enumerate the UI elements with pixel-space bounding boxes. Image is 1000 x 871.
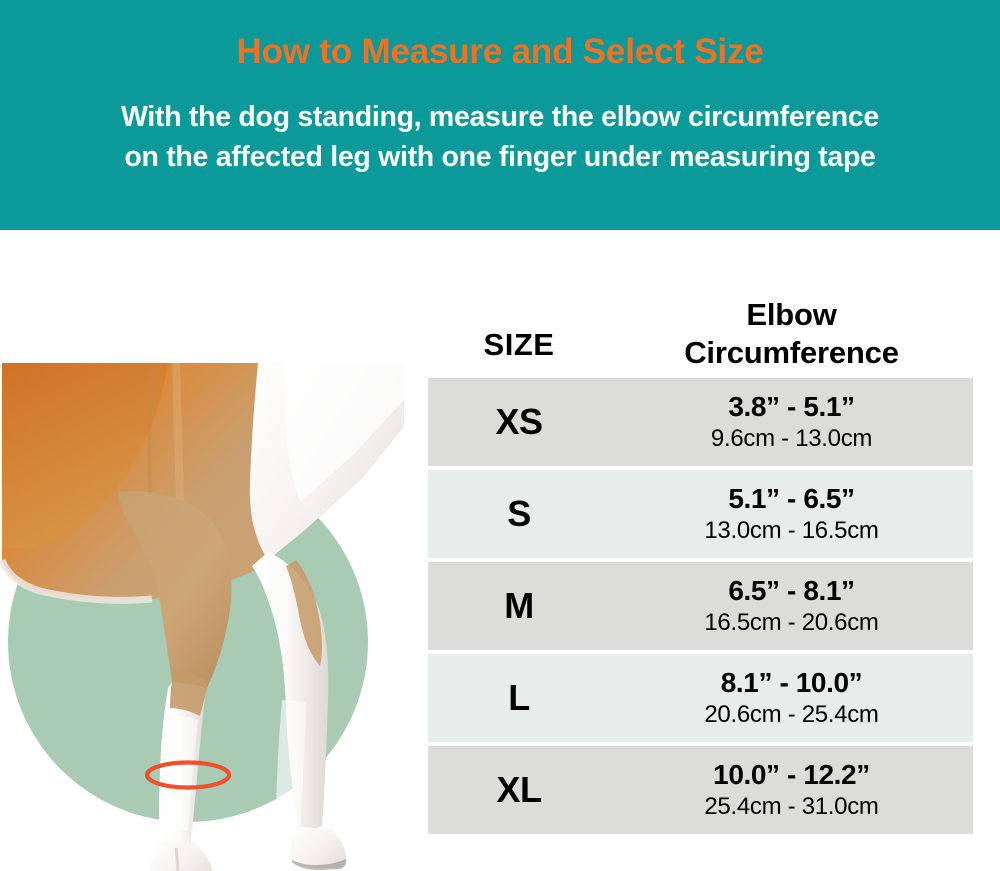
column-header-size: SIZE <box>428 327 610 372</box>
cell-size: M <box>428 585 610 627</box>
cell-circumference: 5.1” - 6.5” 13.0cm - 16.5cm <box>610 482 973 547</box>
cell-circumference: 10.0” - 12.2” 25.4cm - 31.0cm <box>610 758 973 823</box>
cell-circumference: 8.1” - 10.0” 20.6cm - 25.4cm <box>610 666 973 731</box>
value-centimeters: 16.5cm - 20.6cm <box>610 608 973 639</box>
cell-size: L <box>428 677 610 719</box>
cell-size: XS <box>428 401 610 443</box>
size-chart-table: SIZE Elbow Circumference XS 3.8” - 5.1” … <box>428 250 973 838</box>
page-title: How to Measure and Select Size <box>0 34 1000 71</box>
dog-rear-leg <box>252 552 346 870</box>
subtitle-line-2: on the affected leg with one finger unde… <box>0 137 1000 177</box>
table-row: S 5.1” - 6.5” 13.0cm - 16.5cm <box>428 470 973 558</box>
value-inches: 6.5” - 8.1” <box>610 574 973 608</box>
subtitle-line-1: With the dog standing, measure the elbow… <box>0 97 1000 137</box>
value-centimeters: 9.6cm - 13.0cm <box>610 424 973 455</box>
cell-circumference: 3.8” - 5.1” 9.6cm - 13.0cm <box>610 390 973 455</box>
value-centimeters: 25.4cm - 31.0cm <box>610 792 973 823</box>
value-inches: 5.1” - 6.5” <box>610 482 973 516</box>
value-inches: 3.8” - 5.1” <box>610 390 973 424</box>
table-row: L 8.1” - 10.0” 20.6cm - 25.4cm <box>428 654 973 742</box>
column-header-circumference: Elbow Circumference <box>610 296 973 372</box>
value-inches: 8.1” - 10.0” <box>610 666 973 700</box>
circumference-header-line-2: Circumference <box>610 334 973 372</box>
value-inches: 10.0” - 12.2” <box>610 758 973 792</box>
page-subtitle: With the dog standing, measure the elbow… <box>0 97 1000 178</box>
dog-white-flank <box>250 363 404 560</box>
value-centimeters: 13.0cm - 16.5cm <box>610 516 973 547</box>
measurement-illustration <box>0 230 420 871</box>
table-row: M 6.5” - 8.1” 16.5cm - 20.6cm <box>428 562 973 650</box>
table-header-row: SIZE Elbow Circumference <box>428 250 973 378</box>
value-centimeters: 20.6cm - 25.4cm <box>610 700 973 731</box>
cell-circumference: 6.5” - 8.1” 16.5cm - 20.6cm <box>610 574 973 639</box>
elbow-circumference-marker <box>143 758 233 792</box>
circumference-header-line-1: Elbow <box>610 296 973 334</box>
table-row: XL 10.0” - 12.2” 25.4cm - 31.0cm <box>428 746 973 834</box>
table-row: XS 3.8” - 5.1” 9.6cm - 13.0cm <box>428 378 973 466</box>
cell-size: S <box>428 493 610 535</box>
header-banner: How to Measure and Select Size With the … <box>0 0 1000 230</box>
cell-size: XL <box>428 769 610 811</box>
